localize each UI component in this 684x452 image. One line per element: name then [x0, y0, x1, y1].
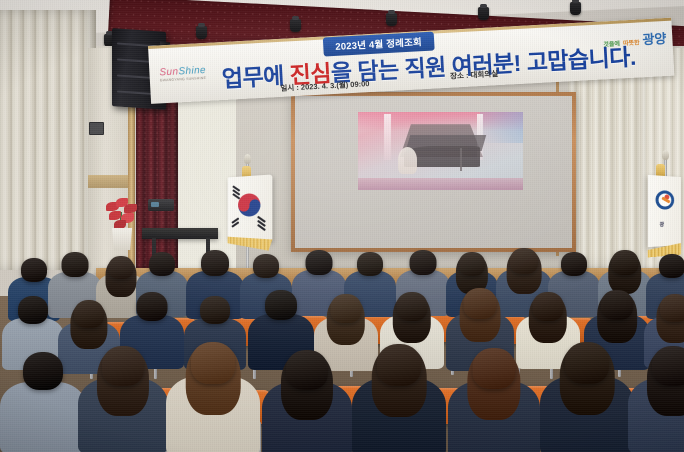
audience-member [352, 344, 446, 452]
audience-head [137, 292, 168, 321]
audience-head [253, 254, 279, 278]
av-equipment-box [148, 199, 174, 211]
audience-head [652, 346, 684, 386]
audience-member [540, 342, 634, 452]
city-flag-finial [662, 150, 669, 160]
projected-video [358, 112, 523, 190]
audience-member [0, 352, 86, 452]
audience-head [201, 250, 229, 276]
projection-blue-wash [480, 112, 523, 143]
auditorium-photo: SunShine GWANGYANG SunShi [0, 0, 684, 452]
audience-head [306, 250, 333, 275]
audience-member [262, 350, 352, 452]
audience-head [357, 252, 383, 276]
audience-head [510, 248, 538, 274]
audience-head [286, 350, 328, 390]
banner-city-logo: 것을에 따뜻한 광양 [603, 28, 667, 50]
audience-head [377, 344, 421, 386]
wall-switch-plate[interactable] [89, 122, 104, 135]
banner-sunshine-logo: SunShine GWANGYANG SUNSHINE [159, 64, 218, 91]
audience-member [166, 342, 260, 452]
audience-head [397, 292, 428, 321]
vertical-blinds-left [0, 10, 96, 270]
city-logo-name: 광양 [642, 31, 667, 47]
spotlight [386, 13, 397, 26]
audience-member [448, 348, 540, 452]
audience-head [200, 296, 230, 324]
city-logo-line2: 따뜻한 [623, 40, 640, 47]
audience-head [473, 348, 516, 389]
audience-head [331, 294, 362, 323]
spotlight [290, 19, 301, 32]
left-wall-band [88, 175, 130, 188]
audience-head [660, 294, 684, 322]
audience-member [628, 346, 684, 452]
city-logo-line1: 것을에 [603, 41, 620, 48]
banner-location: 장소 : 대회의실 [450, 68, 499, 82]
audience-head [659, 254, 684, 278]
audience-head [561, 252, 587, 276]
audience-torso [0, 382, 86, 452]
korean-national-flag [228, 174, 273, 241]
pleated-curtain-right [568, 48, 648, 276]
audience-head [533, 292, 564, 321]
audience-head [265, 290, 297, 320]
audience-head [612, 250, 639, 275]
spotlight [196, 26, 207, 39]
audience-head [18, 296, 48, 324]
audience-head [102, 346, 144, 386]
audience-head [191, 342, 235, 384]
projection-light-beam [384, 114, 391, 161]
audience-head [62, 252, 89, 277]
projection-performer [398, 147, 418, 174]
taeguk-circle [238, 194, 260, 218]
audience-head [23, 352, 63, 390]
spotlight [478, 7, 489, 20]
audience-head [459, 252, 485, 276]
audience-head [109, 256, 134, 279]
city-ceremonial-flag: 광 [648, 175, 681, 247]
projection-mic-stand [460, 148, 462, 171]
audience-head [21, 258, 47, 282]
audience-head [149, 252, 175, 276]
red-flower-arrangement [104, 198, 142, 232]
audience-head [410, 250, 437, 275]
audience-head [601, 290, 633, 320]
audience-head [464, 288, 497, 319]
flower-pot [110, 228, 134, 250]
spotlight [570, 2, 581, 15]
projection-stage-floor [358, 178, 523, 190]
city-flag-emblem [656, 190, 675, 209]
audience-head [565, 342, 609, 384]
city-flag-mark: 광 [660, 221, 665, 228]
audience-head [74, 300, 104, 328]
korean-flag-finial [244, 154, 251, 164]
audience-member [78, 346, 168, 452]
